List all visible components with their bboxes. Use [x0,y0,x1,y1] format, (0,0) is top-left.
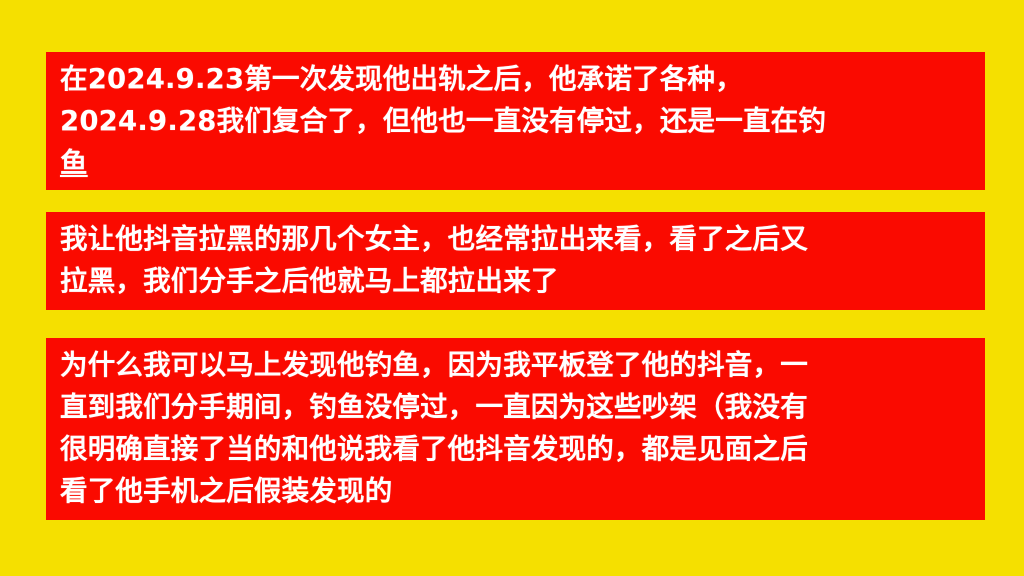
text-line: 在2024.9.23第一次发现他出轨之后，他承诺了各种， [60,58,971,100]
text-line: 为什么我可以马上发现他钓鱼，因为我平板登了他的抖音，一 [60,344,971,386]
text-line: 我让他抖音拉黑的那几个女主，也经常拉出来看，看了之后又 [60,218,971,260]
screenshot-canvas: 在2024.9.23第一次发现他出轨之后，他承诺了各种， 2024.9.28我们… [0,0,1024,576]
text-line: 拉黑，我们分手之后他就马上都拉出来了 [60,260,971,302]
text-block-1: 在2024.9.23第一次发现他出轨之后，他承诺了各种， 2024.9.28我们… [46,52,985,190]
text-line: 直到我们分手期间，钓鱼没停过，一直因为这些吵架（我没有 [60,386,971,428]
text-line: 看了他手机之后假装发现的 [60,470,971,512]
text-line: 鱼 [60,142,971,184]
text-line: 2024.9.28我们复合了，但他也一直没有停过，还是一直在钓 [60,100,971,142]
text-block-3: 为什么我可以马上发现他钓鱼，因为我平板登了他的抖音，一 直到我们分手期间，钓鱼没… [46,338,985,520]
text-line: 很明确直接了当的和他说我看了他抖音发现的，都是见面之后 [60,428,971,470]
text-block-2: 我让他抖音拉黑的那几个女主，也经常拉出来看，看了之后又 拉黑，我们分手之后他就马… [46,212,985,310]
